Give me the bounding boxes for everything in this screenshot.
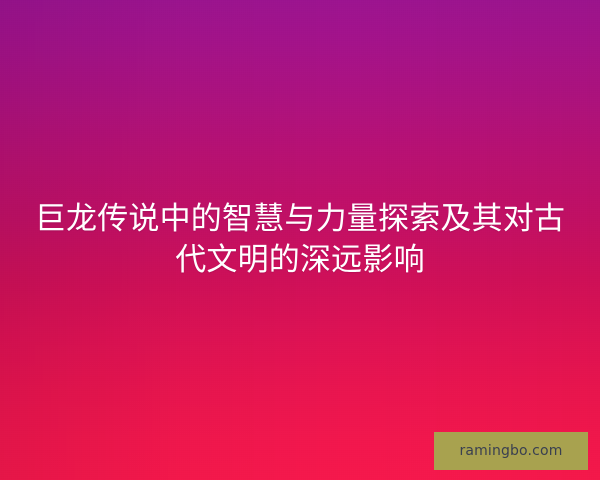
watermark-badge: ramingbo.com — [434, 432, 588, 470]
page-title: 巨龙传说中的智慧与力量探索及其对古代文明的深远影响 — [28, 199, 572, 281]
title-container: 巨龙传说中的智慧与力量探索及其对古代文明的深远影响 — [0, 0, 600, 480]
title-card: 巨龙传说中的智慧与力量探索及其对古代文明的深远影响 ramingbo.com — [0, 0, 600, 480]
watermark-label: ramingbo.com — [460, 444, 563, 458]
